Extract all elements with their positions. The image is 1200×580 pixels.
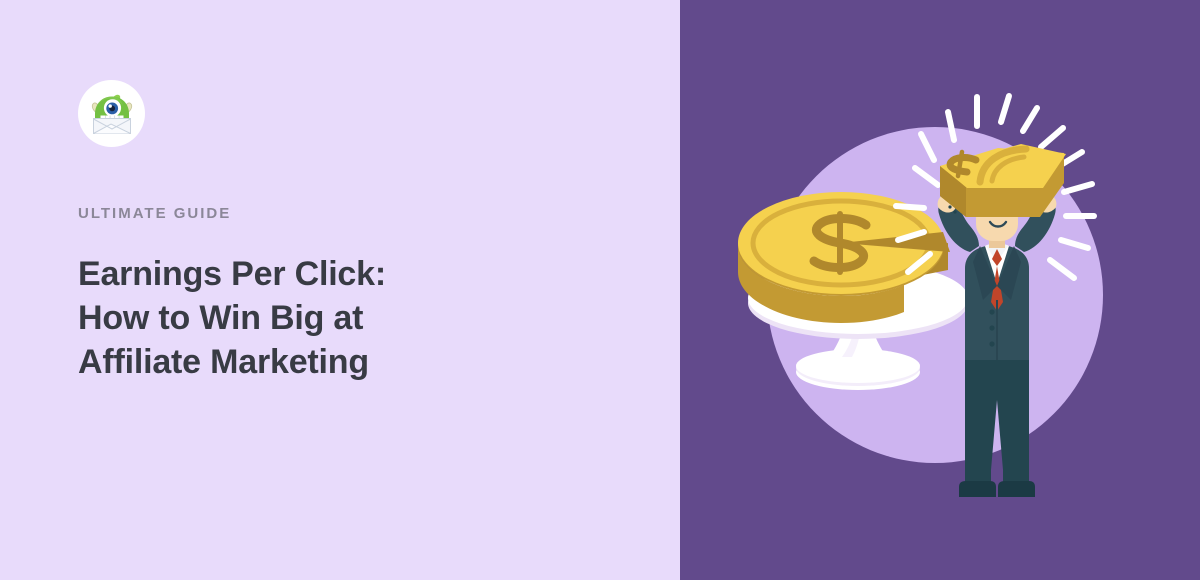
headline-line-2: How to Win Big at	[78, 296, 548, 340]
businessman-lifting-golden-pie-slice-illustration	[680, 0, 1200, 580]
headline-line-3: Affiliate Marketing	[78, 340, 548, 384]
left-text-panel: ULTIMATE GUIDE Earnings Per Click: How t…	[0, 0, 680, 580]
eyebrow-label: ULTIMATE GUIDE	[78, 206, 231, 221]
illustration-svg	[680, 0, 1200, 580]
monster-envelope-glyph	[86, 88, 138, 140]
right-illustration-panel	[680, 0, 1200, 580]
page-title: Earnings Per Click: How to Win Big at Af…	[78, 252, 548, 385]
article-header-banner: ULTIMATE GUIDE Earnings Per Click: How t…	[0, 0, 1200, 580]
optinmonster-monster-envelope-logo-icon[interactable]	[78, 80, 145, 147]
golden-pie-slice	[940, 144, 1066, 217]
headline-line-1: Earnings Per Click:	[78, 252, 548, 296]
